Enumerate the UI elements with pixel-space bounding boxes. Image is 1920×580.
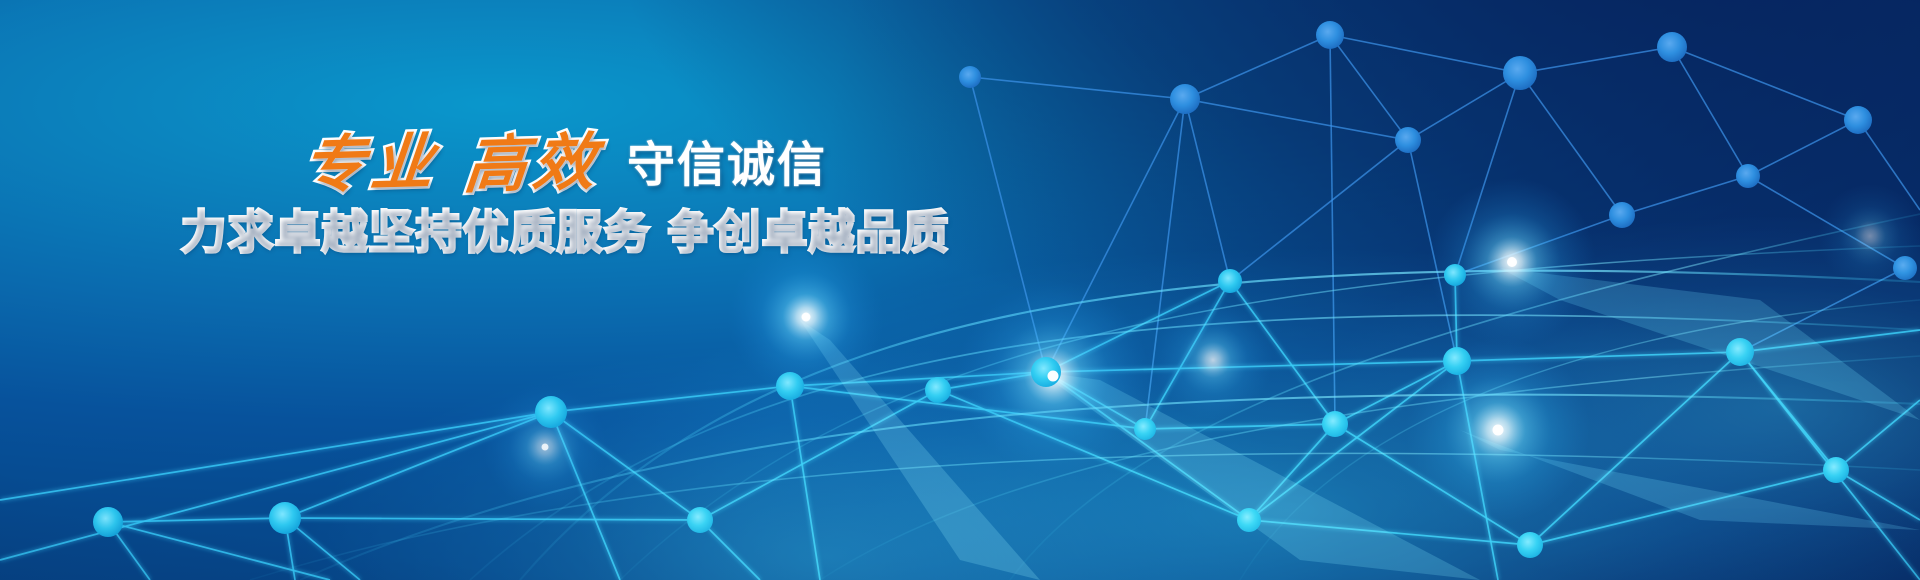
slogan-brush-b: 高效 (462, 131, 604, 197)
slogan-line-primary: 专业高效守信诚信 (0, 133, 1130, 195)
hero-banner: 专业高效守信诚信 力求卓越坚持优质服务 争创卓越品质 (0, 0, 1920, 580)
slogan-brush-a: 专业 (300, 131, 442, 197)
slogan-line-secondary: 力求卓越坚持优质服务 争创卓越品质 (0, 209, 1130, 255)
slogan-block: 专业高效守信诚信 力求卓越坚持优质服务 争创卓越品质 (0, 133, 1130, 255)
background-vignette (0, 0, 1920, 580)
slogan-outline-text: 守信诚信 (627, 141, 827, 189)
